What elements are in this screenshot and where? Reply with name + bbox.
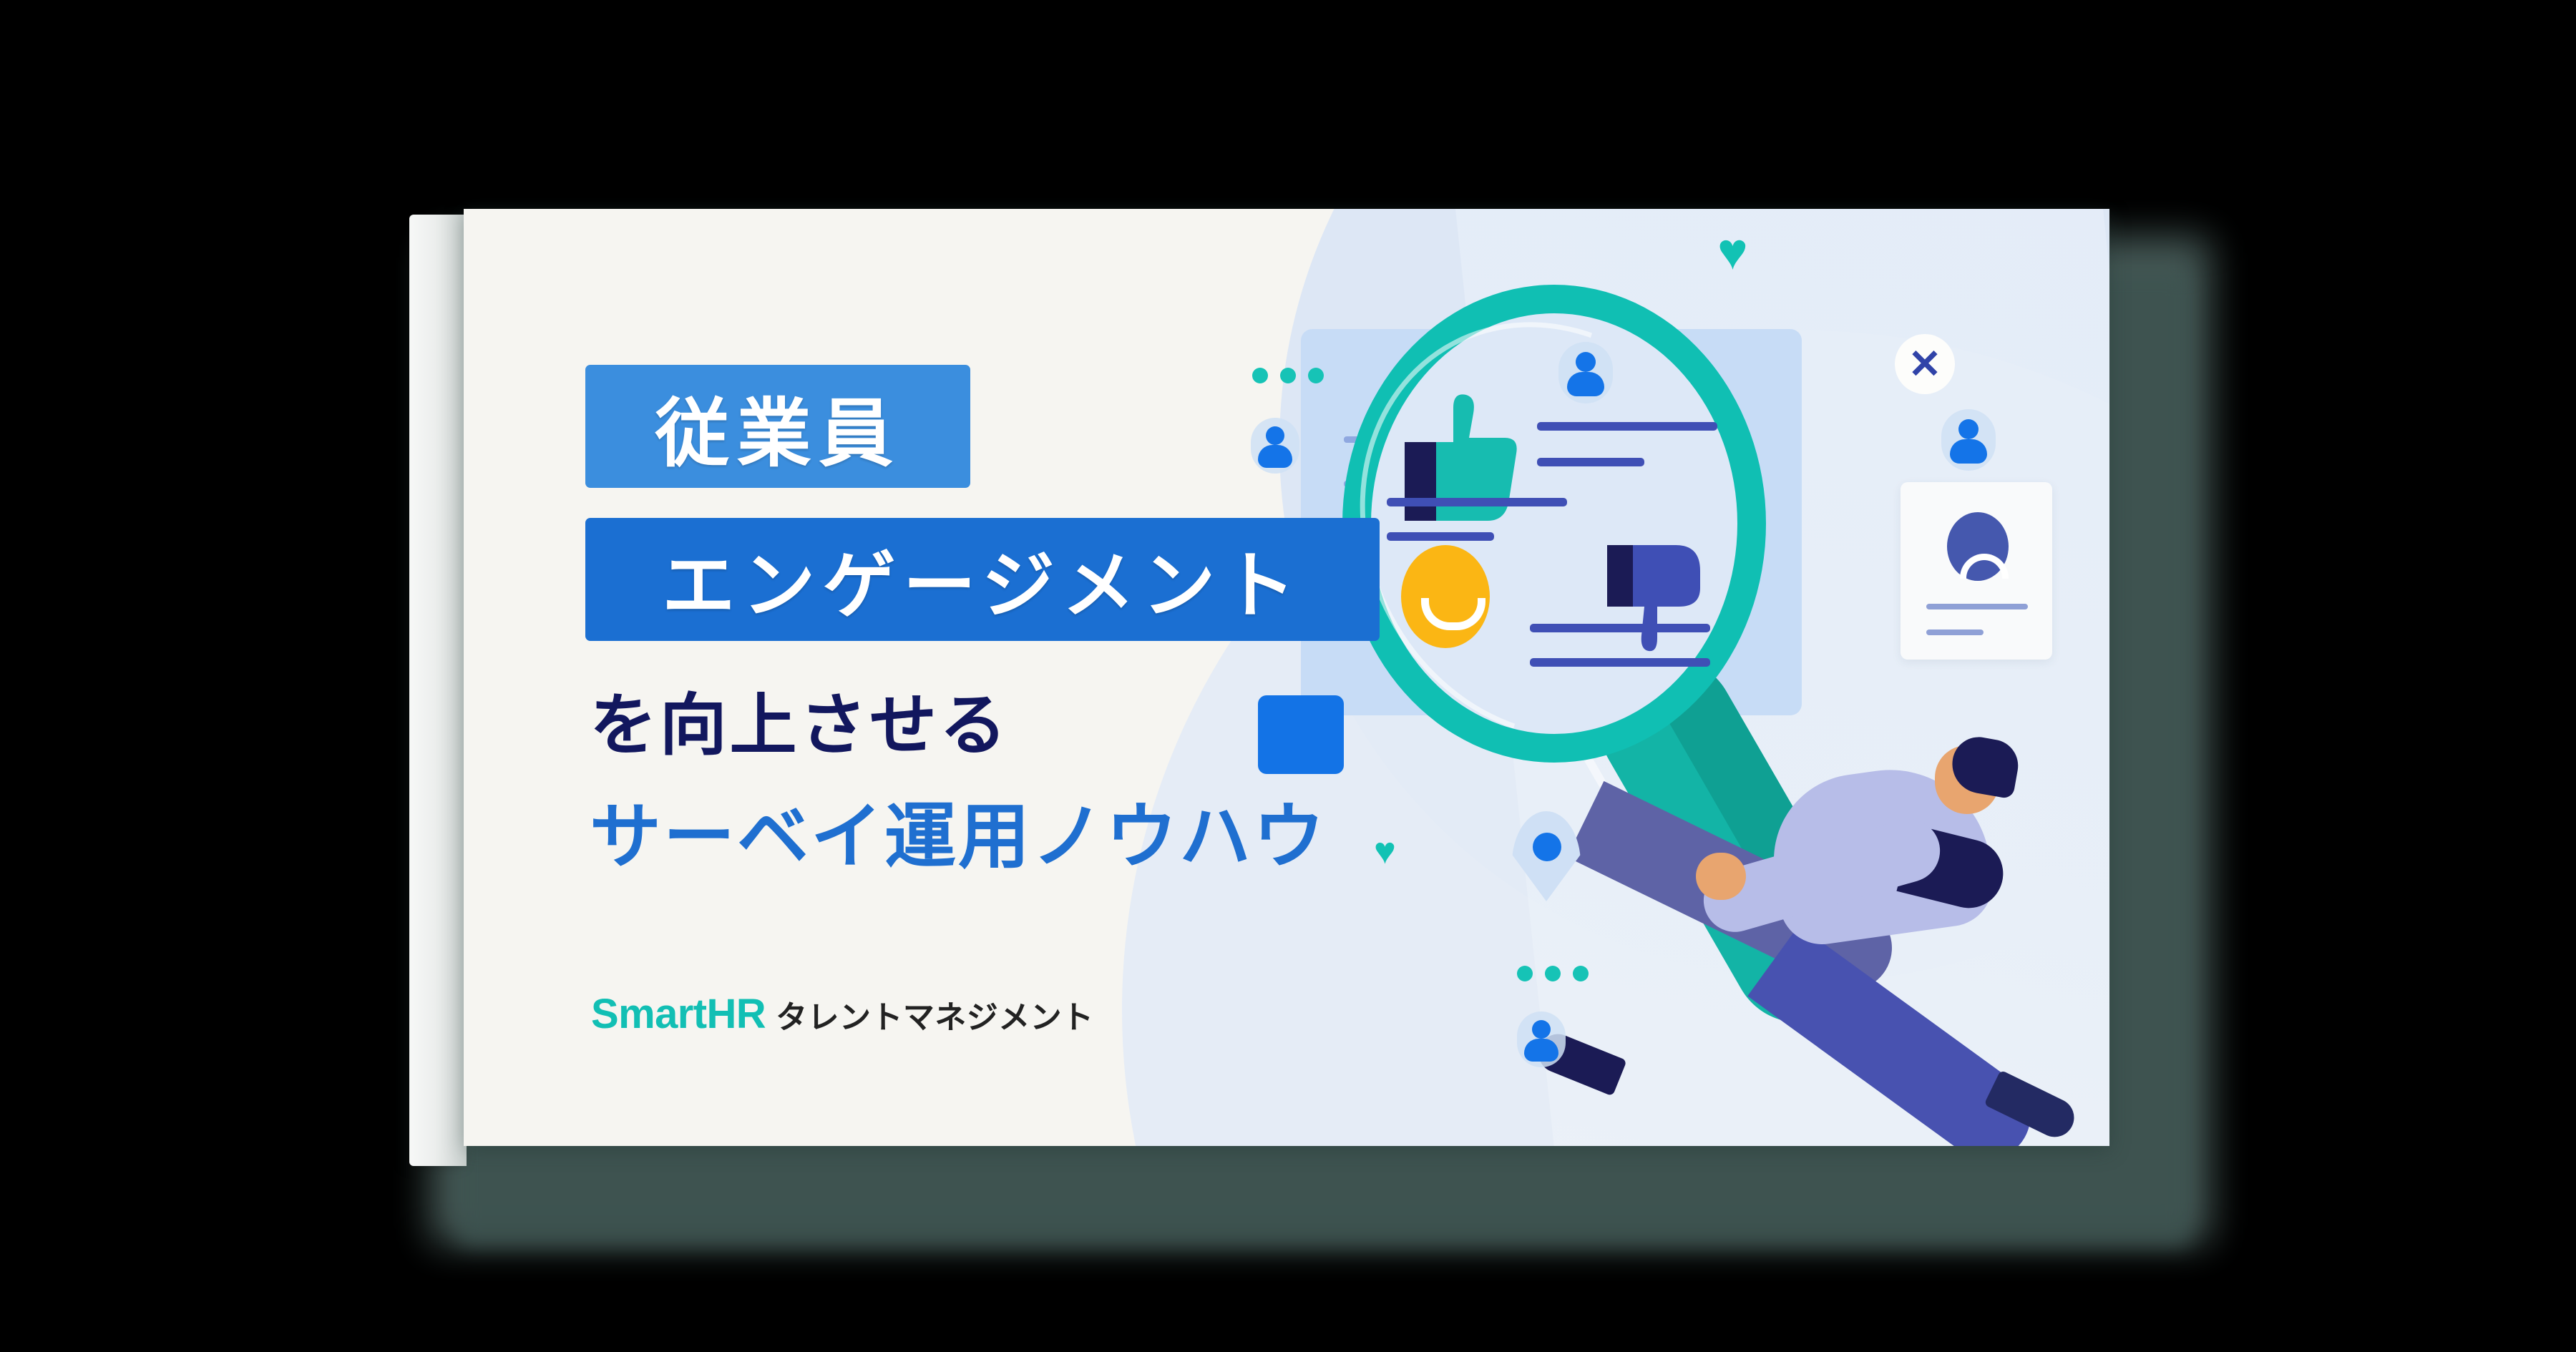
heart-icon: ♥	[1717, 226, 1748, 278]
headline-tag-engagement: エンゲージメント	[585, 518, 1380, 641]
sad-card-line	[1926, 630, 1984, 635]
smarthr-product-name: タレントマネジメント	[776, 991, 1093, 1037]
location-pin-dot	[1533, 833, 1561, 861]
headline-subline-1: を向上させる	[590, 671, 1010, 768]
sad-face-icon	[1947, 512, 2009, 581]
headline-tag-employee: 従業員	[585, 365, 970, 488]
avatar-icon	[1558, 342, 1613, 403]
avatar-icon	[1251, 418, 1299, 474]
avatar-icon	[1941, 409, 1996, 471]
three-dots-icon	[1252, 368, 1324, 383]
ebook-cover: ✕ ♥ ♥ 従業員 エンゲージメント を向上させる サーベイ運用ノウハウ Sma…	[464, 209, 2109, 1146]
lens-text-line	[1530, 624, 1710, 632]
thumbs-down-icon	[1607, 545, 1700, 652]
blue-square-accent	[1258, 695, 1344, 774]
lens-text-line	[1387, 532, 1494, 541]
sad-card-line	[1926, 604, 2028, 609]
headline-subline-2: サーベイ運用ノウハウ	[590, 778, 1327, 882]
smiley-face-icon	[1401, 545, 1490, 648]
person-figure	[1537, 710, 2109, 1146]
smarthr-logo: SmartHR タレントマネジメント	[591, 990, 1094, 1038]
avatar-icon	[1517, 1011, 1566, 1067]
book-spine	[409, 215, 467, 1166]
lens-text-line	[1537, 422, 1717, 431]
smarthr-wordmark: SmartHR	[591, 990, 766, 1038]
lens-text-line	[1537, 458, 1644, 466]
lens-text-line	[1530, 658, 1710, 667]
lens-text-line	[1387, 498, 1567, 506]
close-icon: ✕	[1895, 334, 1955, 394]
person-hand	[1696, 853, 1746, 900]
heart-icon: ♥	[1374, 833, 1396, 870]
canvas: ✕ ♥ ♥ 従業員 エンゲージメント を向上させる サーベイ運用ノウハウ Sma…	[0, 0, 2576, 1352]
three-dots-icon	[1517, 966, 1589, 981]
